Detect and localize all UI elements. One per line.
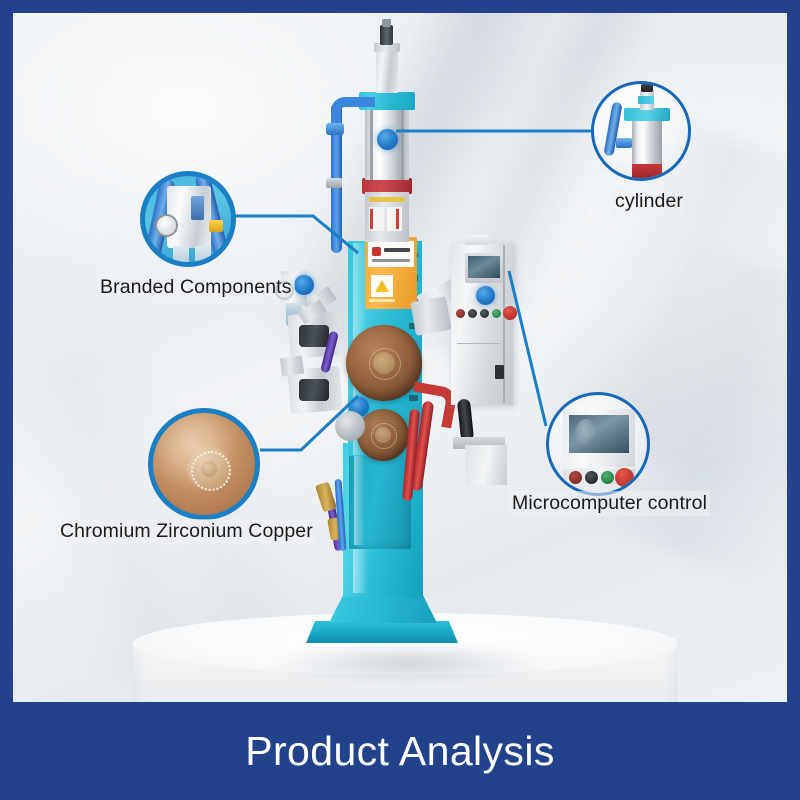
machine-cylinder-top-nut — [382, 19, 391, 27]
callout-label-microcomputer-control: Microcomputer control — [509, 491, 710, 516]
anchor-dot-microcomputer-control — [476, 286, 495, 305]
machine-small-pulley — [335, 411, 365, 441]
machine-brand-logo-subtext — [372, 259, 410, 262]
poster-root: Branded Components cylinder Chromium Zir… — [0, 0, 800, 800]
machine-cabinet-button — [468, 309, 477, 318]
callout-yellow-fitting — [209, 220, 223, 232]
callout-label-branded-components: Branded Components — [97, 275, 295, 300]
machine-side-box — [465, 445, 507, 485]
machine-cabinet-button — [456, 309, 465, 318]
callout-hose — [603, 102, 622, 157]
bottom-banner: Product Analysis — [0, 702, 800, 800]
machine-cabinet-button — [492, 309, 501, 318]
product-photo-stage: Branded Components cylinder Chromium Zir… — [13, 13, 787, 702]
machine-cabinet-door-seam — [503, 245, 505, 403]
callout-blue-label — [191, 196, 204, 220]
machine-cylinder-lower-stripe — [396, 209, 399, 229]
warning-triangle-icon — [375, 280, 389, 292]
callout-button-black — [585, 471, 598, 484]
callout-microcomputer-control[interactable] — [546, 392, 650, 496]
machine-warning-text — [369, 299, 395, 302]
callout-button-estop — [615, 468, 634, 487]
machine-cylinder-lower-labels — [387, 207, 402, 231]
machine-left-bracket — [280, 356, 304, 377]
machine-actuator-block — [410, 296, 451, 336]
machine-cabinet-panel-line — [457, 343, 501, 344]
callout-label-cylinder: cylinder — [612, 189, 686, 214]
copper-wheel-large-bolts — [369, 348, 401, 380]
callout-branded-components[interactable] — [140, 171, 236, 267]
callout-wheel-sheen — [153, 413, 255, 515]
copper-wheel-small-bolts — [371, 423, 397, 449]
machine-left-motor-lower — [299, 379, 329, 401]
machine-brand-logo-mark — [372, 247, 381, 256]
callout-hose-fitting — [616, 138, 632, 148]
anchor-dot-cylinder — [377, 129, 398, 150]
machine-left-motor-upper — [299, 325, 329, 347]
machine-hose-fitting — [326, 123, 344, 135]
machine-brass-fitting — [315, 482, 337, 513]
callout-button-green — [601, 471, 614, 484]
callout-cylinder[interactable] — [591, 81, 691, 181]
callout-cylinder-collar — [638, 96, 654, 104]
machine-cylinder-tierod — [401, 108, 404, 180]
callout-filter-bowl — [173, 246, 189, 267]
machine-hmi-screen — [468, 256, 500, 278]
machine-cylinder-rod — [376, 47, 398, 93]
machine-cylinder-lower-stripe — [370, 209, 373, 229]
anchor-dot-branded-components — [294, 275, 314, 295]
machine-base-plate — [306, 621, 458, 643]
machine-base-riser — [329, 593, 437, 623]
callout-pressure-gauge — [155, 214, 178, 237]
callout-label-chromium-zirconium-copper: Chromium Zirconium Copper — [57, 519, 316, 544]
machine-transformer-highlight — [354, 449, 365, 545]
machine-hose-fitting — [326, 178, 342, 188]
machine-cabinet-top-vent — [465, 235, 489, 245]
callout-cylinder-top-valve — [641, 84, 653, 92]
machine-cabinet-estop — [503, 306, 517, 320]
machine-warning-label — [371, 275, 393, 297]
banner-title: Product Analysis — [245, 728, 555, 775]
callout-button-red-dark — [569, 471, 582, 484]
machine-cylinder-top-valve — [380, 25, 393, 45]
machine-brand-logo-text — [384, 248, 410, 252]
callout-lcd-glare — [575, 419, 597, 447]
machine-cylinder-lower-labels — [369, 197, 405, 202]
machine-cabinet-latch — [495, 365, 504, 379]
callout-chromium-zirconium-copper[interactable] — [148, 408, 260, 520]
machine-cabinet-button — [480, 309, 489, 318]
